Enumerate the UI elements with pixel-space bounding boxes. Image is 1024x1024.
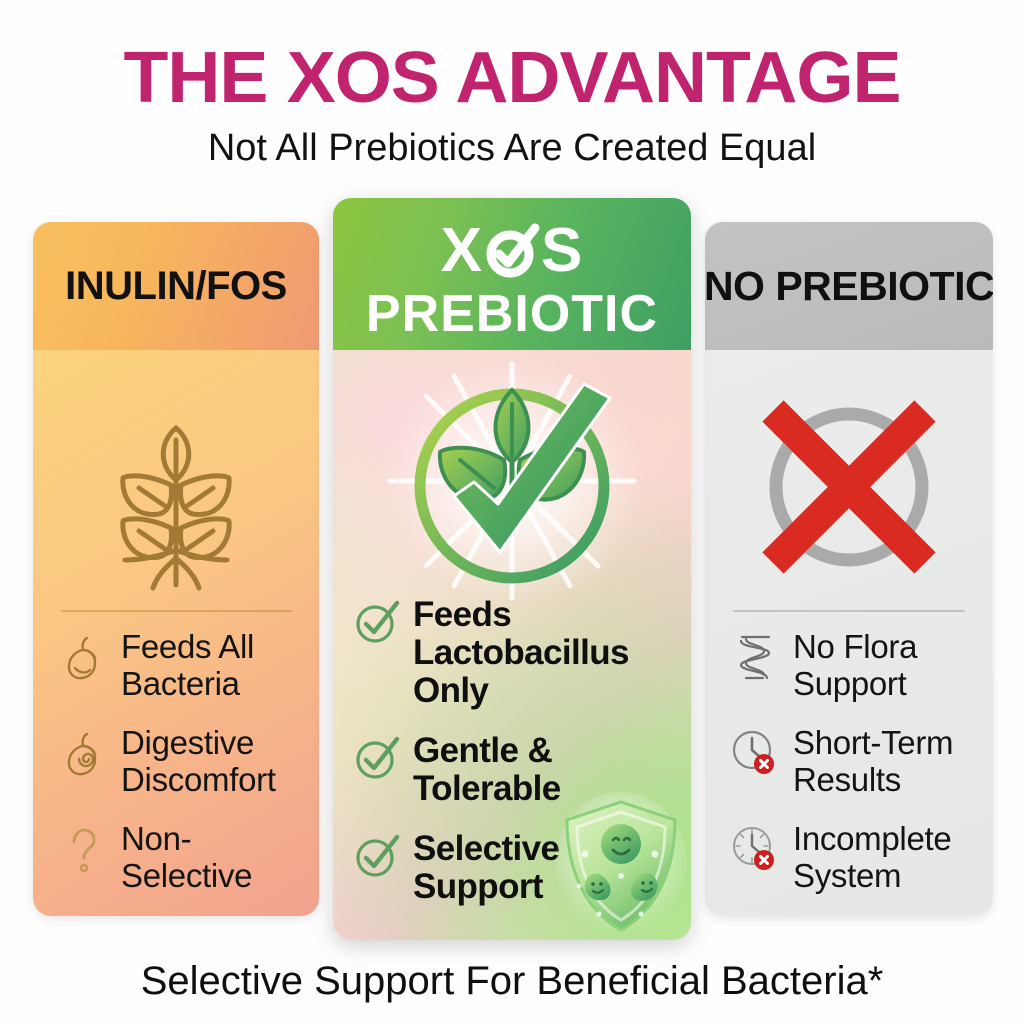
probiotic-shield-icon bbox=[555, 796, 687, 936]
feature-label: Digestive Discomfort bbox=[121, 722, 301, 798]
hero-art-center bbox=[333, 356, 691, 606]
check-circle-icon bbox=[351, 830, 403, 882]
feature-item: Non-Selective bbox=[53, 818, 301, 894]
column-header-xos-prebiotic: X S PREBIOTIC bbox=[333, 198, 691, 350]
clock-error-icon bbox=[725, 724, 785, 784]
check-circle-icon bbox=[351, 732, 403, 784]
feature-label: Short-Term Results bbox=[793, 722, 975, 798]
feature-item: No Flora Support bbox=[725, 626, 975, 702]
column-header-no-prebiotic: NO PREBIOTIC bbox=[705, 222, 993, 350]
column-header-inulin-fos: INULIN/FOS bbox=[33, 222, 319, 350]
section-divider bbox=[733, 610, 965, 612]
hero-art-left bbox=[33, 362, 319, 612]
column-card-xos-prebiotic: X S PREBIOTIC bbox=[333, 198, 691, 940]
page-title: THE XOS ADVANTAGE bbox=[0, 40, 1024, 116]
leaf-checkmark-badge-icon bbox=[378, 356, 646, 606]
intestine-icon bbox=[725, 628, 785, 688]
stomach-discomfort-icon bbox=[53, 724, 113, 784]
page-subtitle: Not All Prebiotics Are Created Equal bbox=[0, 126, 1024, 170]
feature-label: No Flora Support bbox=[793, 626, 975, 702]
clock-error-icon bbox=[725, 820, 785, 880]
stomach-icon bbox=[53, 628, 113, 688]
feature-label: Feeds Lactobacillus Only bbox=[413, 594, 677, 710]
xos-letter-s: S bbox=[541, 220, 583, 282]
infographic-canvas: THE XOS ADVANTAGE Not All Prebiotics Are… bbox=[0, 0, 1024, 1024]
feature-label: Non-Selective bbox=[121, 818, 301, 894]
feature-list-right: No Flora Support Short-Term Results bbox=[705, 626, 993, 914]
xos-wordmark: X S bbox=[441, 218, 584, 284]
section-divider bbox=[61, 610, 293, 612]
column-card-inulin-fos: INULIN/FOS bbox=[33, 222, 319, 916]
feature-item: Short-Term Results bbox=[725, 722, 975, 798]
probiotic-shield-badge bbox=[555, 796, 687, 936]
column-header-label: NO PREBIOTIC bbox=[705, 262, 993, 310]
xos-letter-x: X bbox=[441, 220, 483, 282]
feature-item: Feeds All Bacteria bbox=[53, 626, 301, 702]
column-header-label: PREBIOTIC bbox=[366, 286, 658, 342]
feature-item: Feeds Lactobacillus Only bbox=[351, 594, 677, 710]
red-cross-circle-icon bbox=[749, 394, 949, 580]
question-mark-icon bbox=[53, 820, 113, 880]
xos-check-o-icon bbox=[485, 224, 539, 278]
hero-art-right bbox=[705, 362, 993, 612]
feature-item: Incomplete System bbox=[725, 818, 975, 894]
feature-list-left: Feeds All Bacteria Digestive Discomfort bbox=[33, 626, 319, 914]
check-circle-icon bbox=[351, 596, 403, 648]
feature-label: Incomplete System bbox=[793, 818, 975, 894]
column-card-no-prebiotic: NO PREBIOTIC bbox=[705, 222, 993, 916]
column-header-label: INULIN/FOS bbox=[65, 264, 287, 309]
feature-item: Digestive Discomfort bbox=[53, 722, 301, 798]
plant-with-roots-icon bbox=[91, 380, 261, 595]
feature-label: Feeds All Bacteria bbox=[121, 626, 301, 702]
footer-caption: Selective Support For Beneficial Bacteri… bbox=[0, 958, 1024, 1004]
